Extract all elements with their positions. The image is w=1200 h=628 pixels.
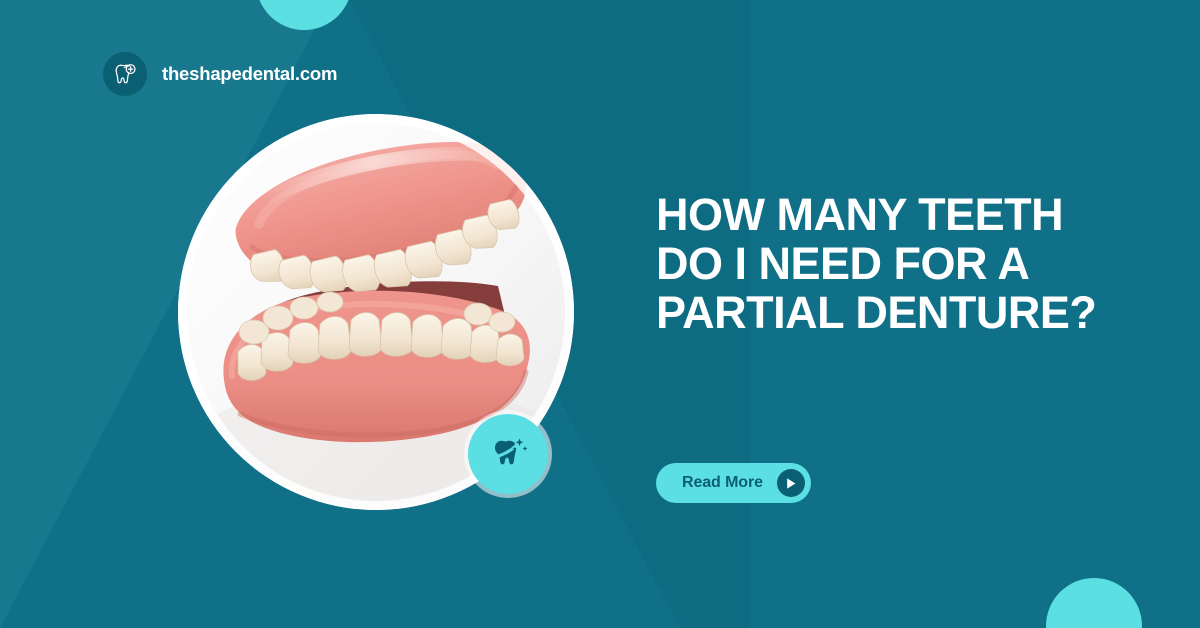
play-icon [777,469,805,497]
sparkling-tooth-icon [468,414,548,494]
read-more-button[interactable]: Read More [656,463,811,503]
headline-line-3: PARTIAL DENTURE? [656,287,1096,338]
brand-logo[interactable]: theshapedental.com [103,52,337,96]
brand-name: theshapedental.com [162,63,337,85]
tooth-with-medical-cross-icon [103,52,147,96]
headline-line-2: DO I NEED FOR A [656,238,1029,289]
page-title: HOW MANY TEETH DO I NEED FOR A PARTIAL D… [656,190,1126,337]
blog-banner: theshapedental.com [0,0,1200,628]
headline-line-1: HOW MANY TEETH [656,189,1063,240]
headline-block: HOW MANY TEETH DO I NEED FOR A PARTIAL D… [656,190,1156,337]
read-more-label: Read More [682,474,763,492]
